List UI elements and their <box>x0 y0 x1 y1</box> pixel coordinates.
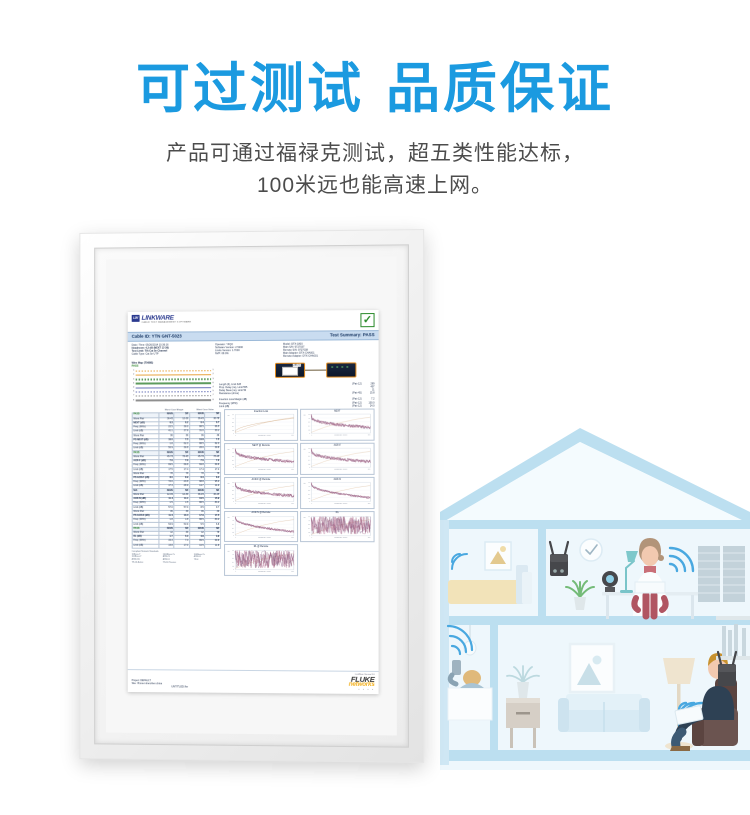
subtitle-line-2: 100米远也能高速上网。 <box>0 170 750 202</box>
svg-text:0: 0 <box>233 468 234 470</box>
value-label: Limit (dB) <box>219 405 348 409</box>
cable-id-label: Cable ID: YTN GNT-5023 <box>132 334 182 340</box>
svg-text:350: 350 <box>368 537 371 539</box>
svg-text:48: 48 <box>308 452 310 454</box>
fluke-dots: ● ● ● ● <box>349 688 375 691</box>
wire-pin-right: 3 <box>211 378 215 381</box>
svg-text:0: 0 <box>233 569 234 571</box>
svg-text:0: 0 <box>309 434 310 436</box>
meta-column-right: Model: DTX-1800 Main S/N: 9727037 Remote… <box>283 342 375 358</box>
table-row: Limit (dB)14.817.010.511.8 <box>132 544 220 548</box>
svg-text:24: 24 <box>232 528 234 530</box>
wiremap-and-values: Wire Map (T568B) PASS 1122336644557788 2… <box>128 360 379 409</box>
wire-line <box>136 378 211 380</box>
svg-text:60: 60 <box>232 482 234 484</box>
svg-text:dB: dB <box>303 517 305 519</box>
value-pair: [Pair 45] <box>348 392 361 395</box>
svg-text:dB: dB <box>227 415 229 417</box>
svg-text:24: 24 <box>232 494 234 496</box>
value-rows: Length (ft), Limit 328[Pair 12]269Prop. … <box>219 382 374 408</box>
svg-text:12: 12 <box>232 464 234 466</box>
svg-text:0: 0 <box>235 435 236 437</box>
svg-text:Frequency (MHz): Frequency (MHz) <box>258 469 271 471</box>
wire-map: Wire Map (T568B) PASS 1122336644557788 <box>132 361 215 409</box>
standards-col-3: 100Base-TxATM-51TR-4 <box>194 553 221 564</box>
svg-text:48: 48 <box>308 520 310 522</box>
wire-map-rows: 1122336644557788 <box>132 369 215 403</box>
svg-text:350: 350 <box>291 469 294 471</box>
wire-line <box>136 399 211 401</box>
svg-text:0: 0 <box>235 537 236 539</box>
subtitle: 产品可通过福禄克测试，超五类性能达标， 100米远也能高速上网。 <box>0 138 750 201</box>
row-value: 14.8 <box>159 544 174 548</box>
svg-text:48: 48 <box>232 486 234 488</box>
svg-text:0: 0 <box>309 535 310 537</box>
meta-nvp: NVP: 69.0% <box>215 352 277 356</box>
svg-text:Frequency (MHz): Frequency (MHz) <box>334 537 348 539</box>
svg-text:48: 48 <box>232 554 234 556</box>
svg-text:0: 0 <box>309 501 310 503</box>
wire-line <box>136 374 211 376</box>
wire-line <box>136 370 211 372</box>
svg-text:60: 60 <box>308 516 310 518</box>
svg-text:12: 12 <box>232 498 234 500</box>
svg-text:36: 36 <box>232 524 234 526</box>
svg-text:350: 350 <box>368 503 371 505</box>
fluke-test-report: LW LINKWARE CABLE TEST MANAGEMENT SOFTWA… <box>128 310 379 694</box>
results-table: Worst Case MarginWorst Case ValuePASSMAI… <box>132 409 221 548</box>
chart-insertion-loss: Insertion Loss60483624120dB0350Frequency… <box>224 409 298 441</box>
svg-text:36: 36 <box>232 490 234 492</box>
chart-acr-n-remote: ACR-N @ Remote60483624120dB0350Frequency… <box>224 511 298 543</box>
svg-text:Frequency (MHz): Frequency (MHz) <box>258 570 271 572</box>
svg-text:0: 0 <box>311 469 312 471</box>
value-number: 24.0 <box>361 404 374 407</box>
svg-text:36: 36 <box>308 490 310 492</box>
svg-text:dB: dB <box>227 449 229 451</box>
svg-text:Frequency (MHz): Frequency (MHz) <box>258 503 271 505</box>
value-pair: [Pair 12] <box>348 404 361 407</box>
svg-text:Frequency (MHz): Frequency (MHz) <box>334 503 348 505</box>
svg-text:60: 60 <box>232 449 234 451</box>
wire-line <box>136 391 211 393</box>
wire-pin-right: 5 <box>211 390 215 393</box>
meta-remote-adapter: Remote Adapter: DTX-CHA001 <box>283 355 375 359</box>
picture-frame: LW LINKWARE CABLE TEST MANAGEMENT SOFTWA… <box>79 229 424 763</box>
svg-text:dB: dB <box>227 483 229 485</box>
svg-text:dB: dB <box>227 551 229 553</box>
svg-text:36: 36 <box>308 456 310 458</box>
wire-map-status: PASS <box>132 364 215 368</box>
svg-text:0: 0 <box>233 501 234 503</box>
svg-text:0: 0 <box>311 503 312 505</box>
svg-text:350: 350 <box>291 571 294 573</box>
row-label: Limit (dB) <box>132 544 158 548</box>
svg-text:48: 48 <box>308 418 310 420</box>
svg-text:24: 24 <box>232 561 234 563</box>
fluke-networks-logo: FLUKE networks ● ● ● ● <box>349 676 375 691</box>
svg-text:12: 12 <box>308 430 310 432</box>
svg-text:dB: dB <box>303 415 305 417</box>
wire-pin-right: 7 <box>211 394 215 397</box>
headline-block: 可过测试品质保证 产品可通过福禄克测试，超五类性能达标， 100米远也能高速上网… <box>0 0 750 201</box>
chart-rl: RL60483624120dB0350Frequency (MHz) <box>300 511 374 543</box>
house-illustration <box>430 420 750 780</box>
svg-text:36: 36 <box>232 422 234 424</box>
svg-text:0: 0 <box>233 434 234 436</box>
wire-line <box>136 395 211 397</box>
svg-text:0: 0 <box>309 468 310 470</box>
wire-line <box>136 383 211 385</box>
svg-text:350: 350 <box>291 435 294 437</box>
wire-line <box>136 387 211 389</box>
svg-text:24: 24 <box>308 494 310 496</box>
report-header: LW LINKWARE CABLE TEST MANAGEMENT SOFTWA… <box>128 310 379 332</box>
svg-text:60: 60 <box>232 516 234 518</box>
row-value: 10.5 <box>190 544 205 548</box>
value-row: Resistance (ohms)[Pair 45]15.8 <box>219 392 374 396</box>
svg-text:36: 36 <box>308 422 310 424</box>
results-table-wrap: Worst Case MarginWorst Case ValuePASSMAI… <box>132 409 221 576</box>
svg-text:12: 12 <box>308 498 310 500</box>
svg-text:12: 12 <box>232 430 234 432</box>
svg-text:0: 0 <box>235 503 236 505</box>
svg-text:60: 60 <box>232 550 234 552</box>
cable-length-label: 285 ft <box>292 364 301 367</box>
standard-item: TR-16 Active <box>132 561 159 564</box>
row-value: 11.8 <box>205 544 221 548</box>
svg-text:350: 350 <box>291 503 294 505</box>
value-label: Resistance (ohms) <box>219 392 348 396</box>
wire-pin-right: 6 <box>211 382 215 385</box>
svg-text:12: 12 <box>308 464 310 466</box>
value-row: Limit (dB)[Pair 12]24.0 <box>219 404 374 408</box>
svg-text:350: 350 <box>368 435 371 437</box>
svg-text:0: 0 <box>235 570 236 572</box>
svg-text:12: 12 <box>232 531 234 533</box>
svg-text:24: 24 <box>232 426 234 428</box>
svg-text:dB: dB <box>303 483 305 485</box>
footer-file: UNTITLED.flw <box>132 685 188 689</box>
chart-acr-f-remote: ACR-F @ Remote60483624120dB0350Frequency… <box>224 477 298 509</box>
row-value: 17.0 <box>174 544 189 548</box>
standards-col-2: 1000Base-TxATM-25ATM-51TR-16 Passive <box>163 553 190 564</box>
linkware-badge: LW <box>132 315 140 322</box>
svg-text:60: 60 <box>308 415 310 417</box>
wire-pin-right: 1 <box>211 369 215 372</box>
svg-text:36: 36 <box>232 558 234 560</box>
value-number: 15.8 <box>361 392 374 395</box>
svg-text:60: 60 <box>308 482 310 484</box>
standard-item: TR-4 <box>194 559 221 562</box>
wire-pin-right: 4 <box>211 386 215 389</box>
connector-diagram: 285 ft <box>223 361 370 382</box>
report-metadata: Date / Time: 05/26/2014 10:36:16 Headroo… <box>128 340 379 361</box>
svg-text:dB: dB <box>303 449 305 451</box>
chart-next-remote: NEXT @ Remote60483624120dB0350Frequency … <box>224 443 298 475</box>
svg-text:24: 24 <box>232 460 234 462</box>
page-title: 可过测试品质保证 <box>0 58 750 120</box>
linkware-subtitle: CABLE TEST MANAGEMENT SOFTWARE <box>142 322 192 325</box>
svg-text:60: 60 <box>308 448 310 450</box>
linkware-logo: LW LINKWARE CABLE TEST MANAGEMENT SOFTWA… <box>132 313 375 324</box>
svg-text:36: 36 <box>308 524 310 526</box>
svg-text:48: 48 <box>232 452 234 454</box>
subtitle-line-1: 产品可通过福禄克测试，超五类性能达标， <box>0 138 750 170</box>
wire-pin-right: 8 <box>211 399 215 402</box>
svg-text:48: 48 <box>232 419 234 421</box>
svg-text:0: 0 <box>311 537 312 539</box>
svg-text:dB: dB <box>227 517 229 519</box>
standard-item: TR-16 Passive <box>163 562 190 565</box>
chart-acr-f: ACR-F60483624120dB0350Frequency (MHz) <box>300 443 374 475</box>
wire-map-pair: 88 <box>132 398 215 403</box>
svg-text:Frequency (MHz): Frequency (MHz) <box>334 435 348 437</box>
test-summary-label: Test Summary: PASS <box>330 332 375 338</box>
pass-check-icon: ✓ <box>360 313 374 327</box>
wire-pin-right: 2 <box>211 374 215 377</box>
results-and-charts: Worst Case MarginWorst Case ValuePASSMAI… <box>128 408 379 577</box>
chart-acr-n: ACR-N60483624120dB0350Frequency (MHz) <box>300 477 374 509</box>
svg-text:Frequency (MHz): Frequency (MHz) <box>334 469 348 471</box>
svg-text:24: 24 <box>308 460 310 462</box>
svg-text:Frequency (MHz): Frequency (MHz) <box>258 435 271 437</box>
measured-values: 285 ft Length (ft), Limit 328[Pair 12]26… <box>219 360 374 408</box>
meta-cable-type: Cable Type: Cat 5e UTP <box>132 353 209 357</box>
svg-text:24: 24 <box>308 528 310 530</box>
svg-text:36: 36 <box>232 456 234 458</box>
svg-text:12: 12 <box>232 565 234 567</box>
headline-part-1: 可过测试 <box>136 59 364 119</box>
svg-text:350: 350 <box>291 537 294 539</box>
report-footer: LinkWare Version 8.0 Project: DEFAULT Si… <box>128 669 379 694</box>
svg-text:0: 0 <box>311 435 312 437</box>
charts-grid: Insertion Loss60483624120dB0350Frequency… <box>224 409 375 577</box>
standards-col-1: 10Base-T100Base-TATM-155TR-16 Active <box>132 553 159 564</box>
chart-next: NEXT60483624120dB0350Frequency (MHz) <box>300 409 374 441</box>
svg-text:48: 48 <box>232 520 234 522</box>
svg-text:48: 48 <box>308 486 310 488</box>
svg-text:60: 60 <box>232 415 234 417</box>
remote-tester-icon <box>326 362 356 377</box>
cable-line <box>305 369 326 370</box>
compliant-standards: Compliant Network Standards 10Base-T100B… <box>132 550 221 564</box>
svg-text:Frequency (MHz): Frequency (MHz) <box>258 537 271 539</box>
chart-rl-remote: RL @ Remote60483624120dB0350Frequency (M… <box>224 544 298 576</box>
promo-banner-page: 可过测试品质保证 产品可通过福禄克测试，超五类性能达标， 100米远也能高速上网… <box>0 0 750 815</box>
meta-column-mid: Operator: YFQC Software Version: 2.5200 … <box>215 343 277 359</box>
headline-part-2: 品质保证 <box>386 59 614 119</box>
svg-text:350: 350 <box>368 469 371 471</box>
svg-text:24: 24 <box>308 426 310 428</box>
svg-text:12: 12 <box>308 532 310 534</box>
svg-text:0: 0 <box>233 535 234 537</box>
meta-column-left: Date / Time: 05/26/2014 10:36:16 Headroo… <box>132 343 209 359</box>
svg-text:0: 0 <box>235 469 236 471</box>
